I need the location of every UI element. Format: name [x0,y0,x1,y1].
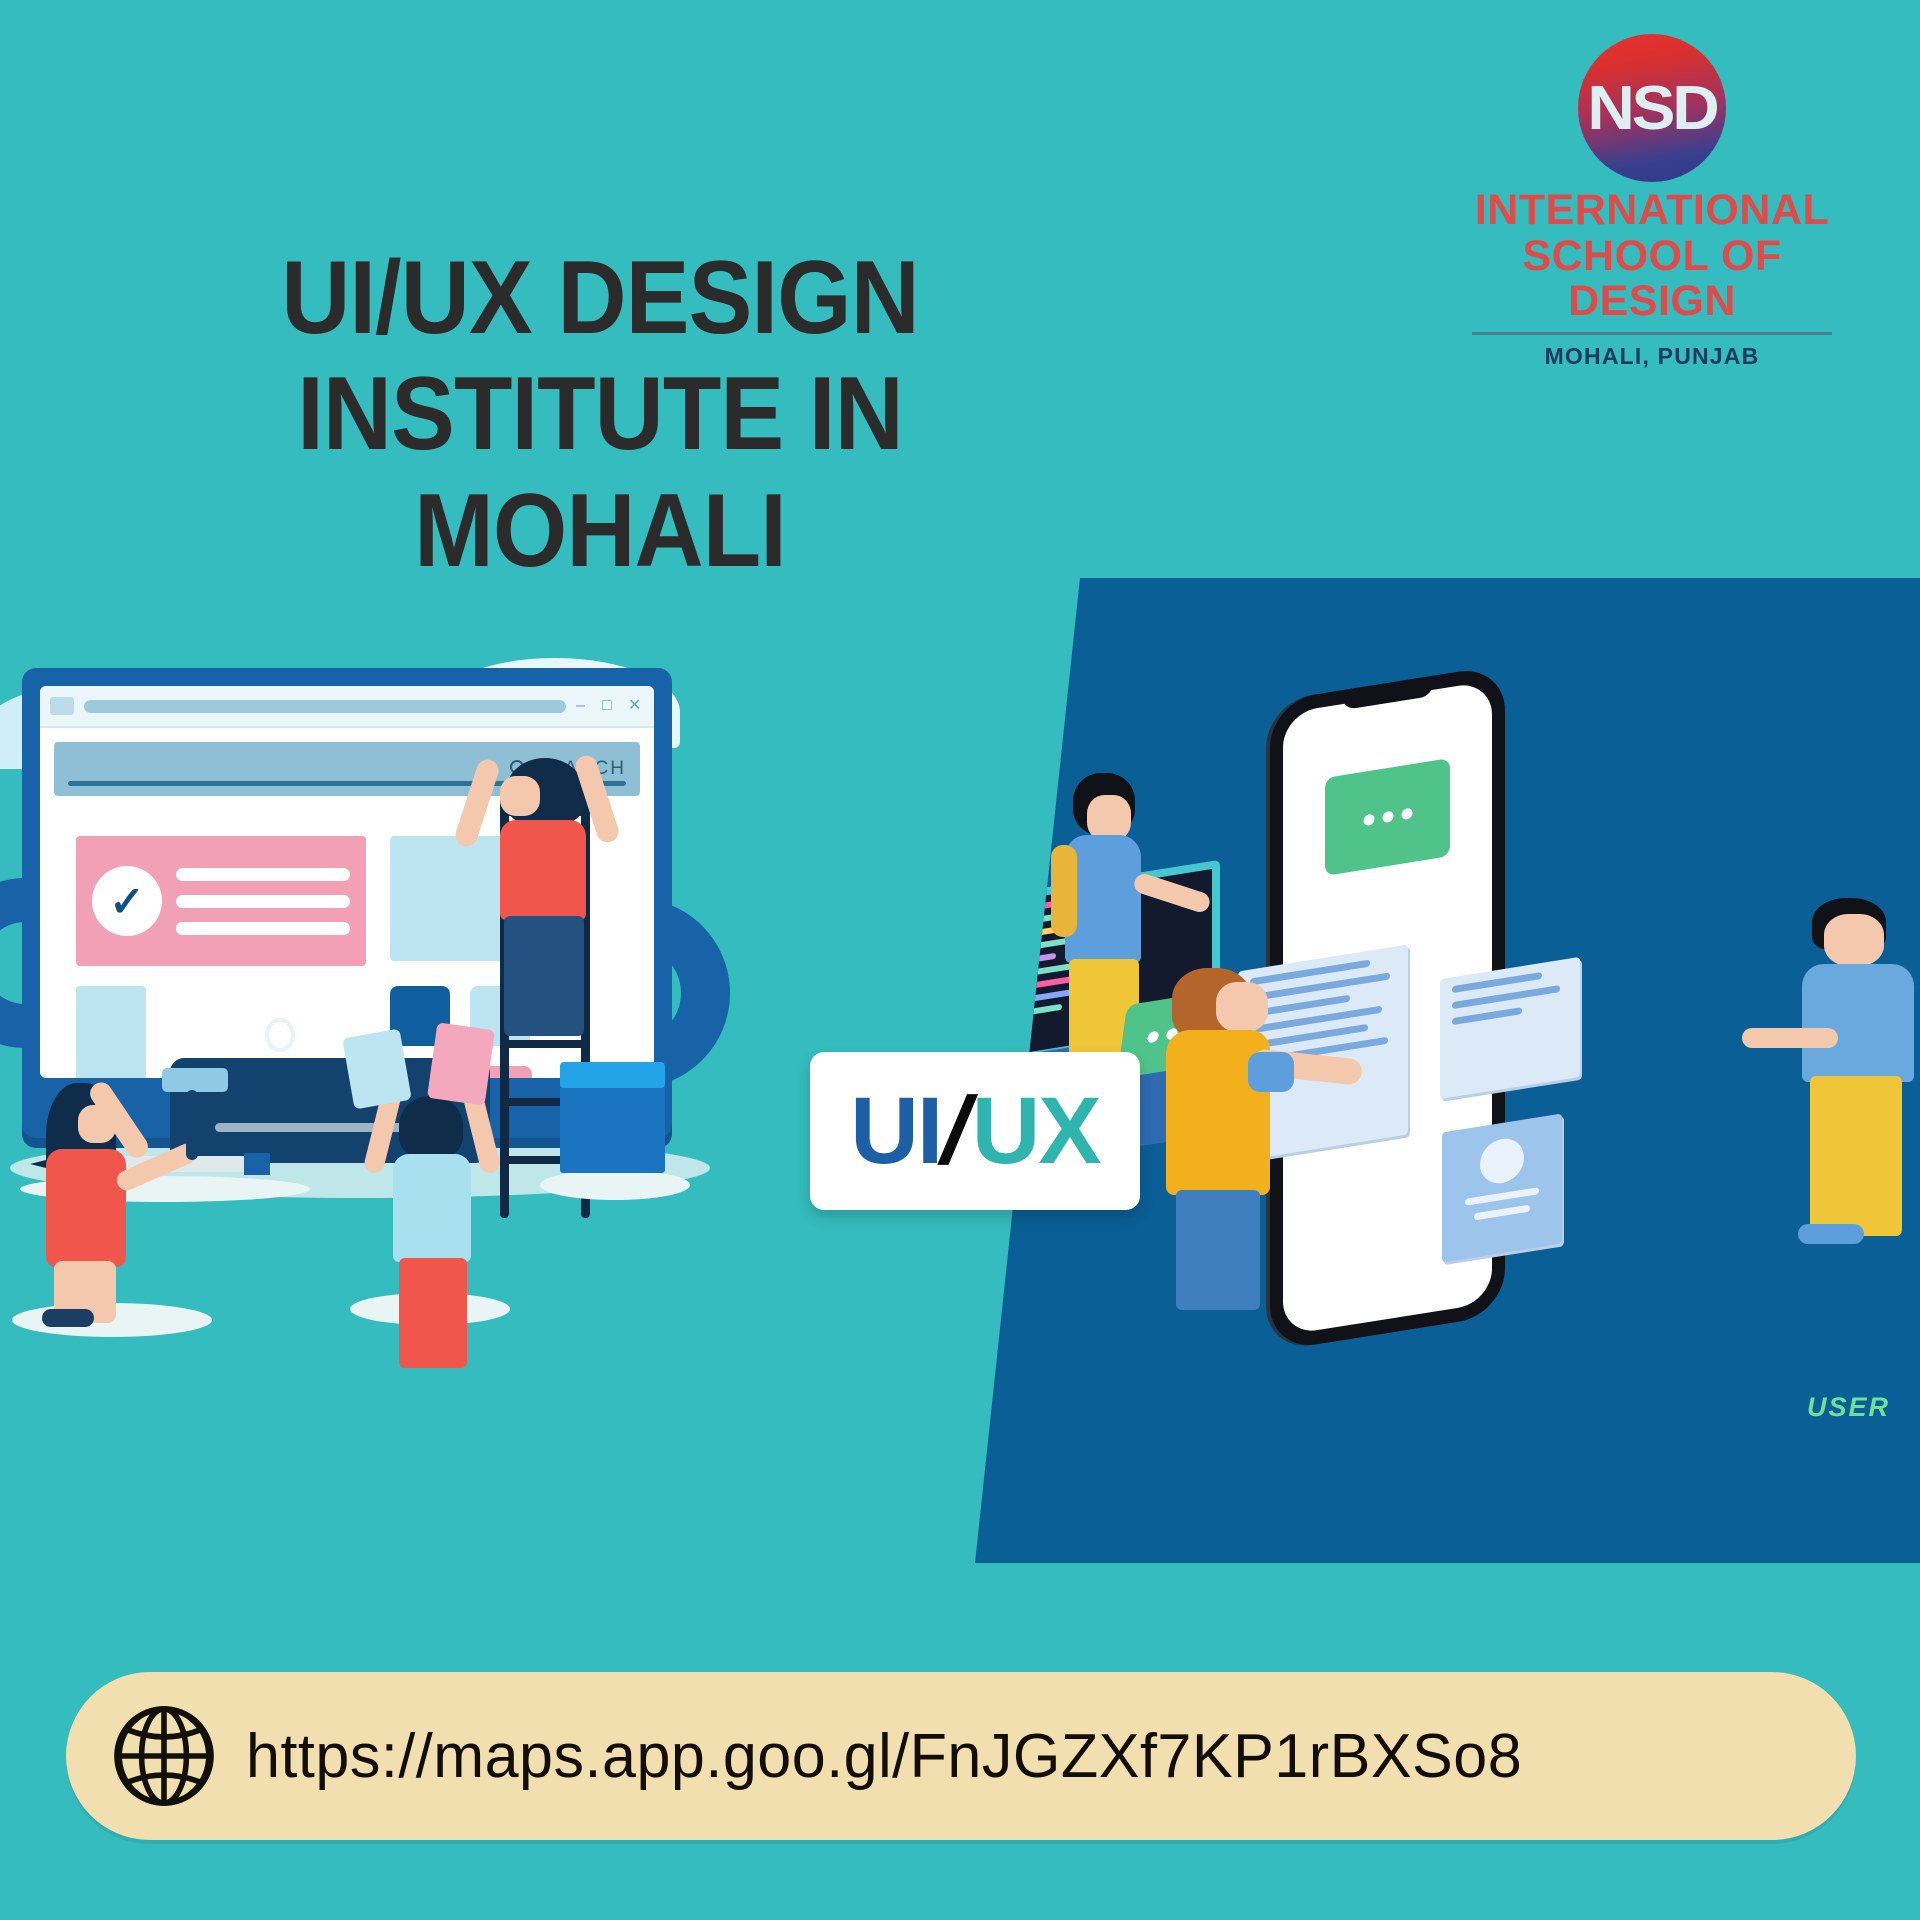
person-hair [399,1096,463,1158]
ground-shadow [540,1170,690,1200]
logo-name-line-1: INTERNATIONAL [1462,188,1842,234]
close-icon[interactable]: ✕ [628,698,644,714]
monitor-power-button[interactable] [265,1018,295,1052]
person-face [1216,982,1268,1032]
chat-bubble-icon [1325,758,1450,876]
person-face [500,776,540,816]
paint-bucket-lid [560,1062,665,1088]
uiux-badge: UI / UX [810,1052,1140,1210]
swatch-card [342,1029,412,1110]
logo-divider [1472,332,1832,335]
browser-chrome-bar: – □ ✕ [40,686,654,728]
uiux-badge-text: UI / UX [850,1084,1099,1179]
person-sleeve [1051,845,1077,937]
illustration-left-panel: – □ ✕ SEARCH ✓ [0,578,790,1563]
person-at-phone [1160,968,1310,1298]
url-banner[interactable]: https://maps.app.goo.gl/FnJGZXf7KP1rBXSo… [66,1672,1856,1840]
person-far-right [1794,898,1920,1258]
person-legs [1176,1190,1260,1310]
headline-line-2: INSTITUTE IN MOHALI [112,356,1087,589]
logo-monogram: NSD [1587,73,1716,144]
headline-line-1: UI/UX DESIGN [112,240,1087,356]
pencil-band [244,1153,270,1175]
chair-base [900,1278,990,1290]
browser-address-bar[interactable] [84,700,566,713]
highlight-card: ✓ [76,836,366,966]
paint-roller-icon [162,1068,228,1092]
person-arm [453,757,502,849]
person-legs [399,1258,467,1368]
person-on-ladder [460,748,620,1048]
person-torso [500,820,586,920]
paint-bucket [560,1078,665,1173]
chair-pole [938,1238,950,1288]
page-title: UI/UX DESIGN INSTITUTE IN MOHALI [112,240,1087,589]
person-sleeve [1248,1052,1294,1092]
person-face [1824,914,1884,966]
chat-dots-icon [1363,808,1412,827]
globe-icon [108,1700,220,1812]
maximize-icon[interactable]: □ [602,698,618,714]
person-painter-woman [18,1083,178,1323]
user-annotation-label: USER [1807,1392,1890,1423]
check-mark-icon: ✓ [92,866,162,936]
paint-roller-handle [186,1090,198,1160]
brand-logo: NSD INTERNATIONAL SCHOOL OF DESIGN MOHAL… [1462,34,1842,370]
swatch-card [427,1022,495,1105]
person-torso [1802,964,1914,1082]
person-arm [1742,1028,1838,1048]
browser-menu-icon[interactable] [50,697,74,715]
uiux-ui-text: UI [850,1084,941,1179]
person-legs [1810,1076,1902,1236]
content-thumb [76,986,146,1078]
url-text[interactable]: https://maps.app.goo.gl/FnJGZXf7KP1rBXSo… [246,1721,1522,1792]
logo-location: MOHALI, PUNJAB [1462,343,1842,370]
person-shoe [42,1309,94,1327]
minimize-icon[interactable]: – [576,698,592,714]
uiux-ux-text: UX [972,1084,1100,1179]
logo-circle-mark: NSD [1578,34,1726,182]
person-shoe [1798,1224,1864,1244]
ui-card-profile [1442,1113,1562,1262]
poster-canvas: UI/UX DESIGN INSTITUTE IN MOHALI NSD INT… [0,0,1920,1920]
person-torso [393,1154,471,1262]
logo-name-line-2: SCHOOL OF DESIGN [1462,234,1842,325]
person-legs [504,916,584,1036]
ui-card [1440,957,1580,1099]
person-dress [46,1149,126,1267]
